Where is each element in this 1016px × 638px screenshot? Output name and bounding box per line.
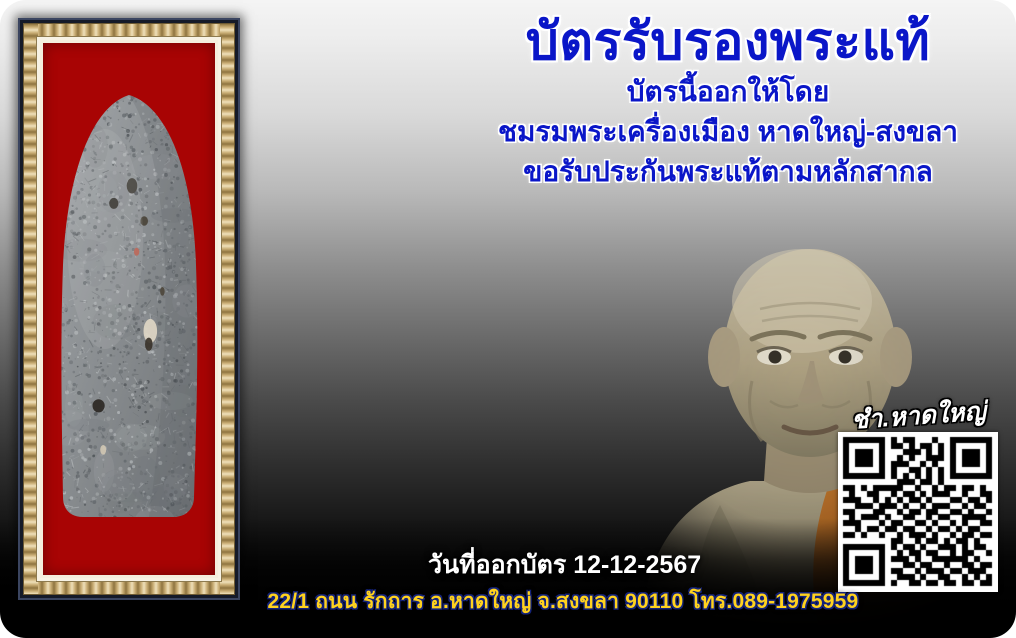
frame-mat (36, 36, 222, 582)
page-title: บัตรรับรองพระแท้ (440, 14, 1016, 70)
qr-code-canvas[interactable] (838, 432, 998, 592)
amulet-picture-frame (18, 18, 240, 600)
heading-block: บัตรรับรองพระแท้ บัตรนี้ออกให้โดย ชมรมพร… (440, 14, 1016, 191)
qr-code[interactable] (838, 432, 998, 592)
amulet-image (53, 89, 205, 529)
amulet-photo (43, 43, 215, 575)
subtitle-organisation: ชมรมพระเครื่องเมือง หาดใหญ่-สงขลา (440, 112, 1016, 152)
footer-address: 22/1 ถนน รักถาร อ.หาดใหญ่ จ.สงขลา 90110 … (0, 585, 1016, 618)
subtitle-issued-by: บัตรนี้ออกให้โดย (440, 72, 1016, 112)
amulet-certificate-card: บัตรรับรองพระแท้ บัตรนี้ออกให้โดย ชมรมพร… (0, 0, 1016, 638)
subtitle-guarantee: ขอรับประกันพระแท้ตามหลักสากล (440, 152, 1016, 192)
issue-date: วันที่ออกบัตร 12-12-2567 (428, 545, 701, 585)
